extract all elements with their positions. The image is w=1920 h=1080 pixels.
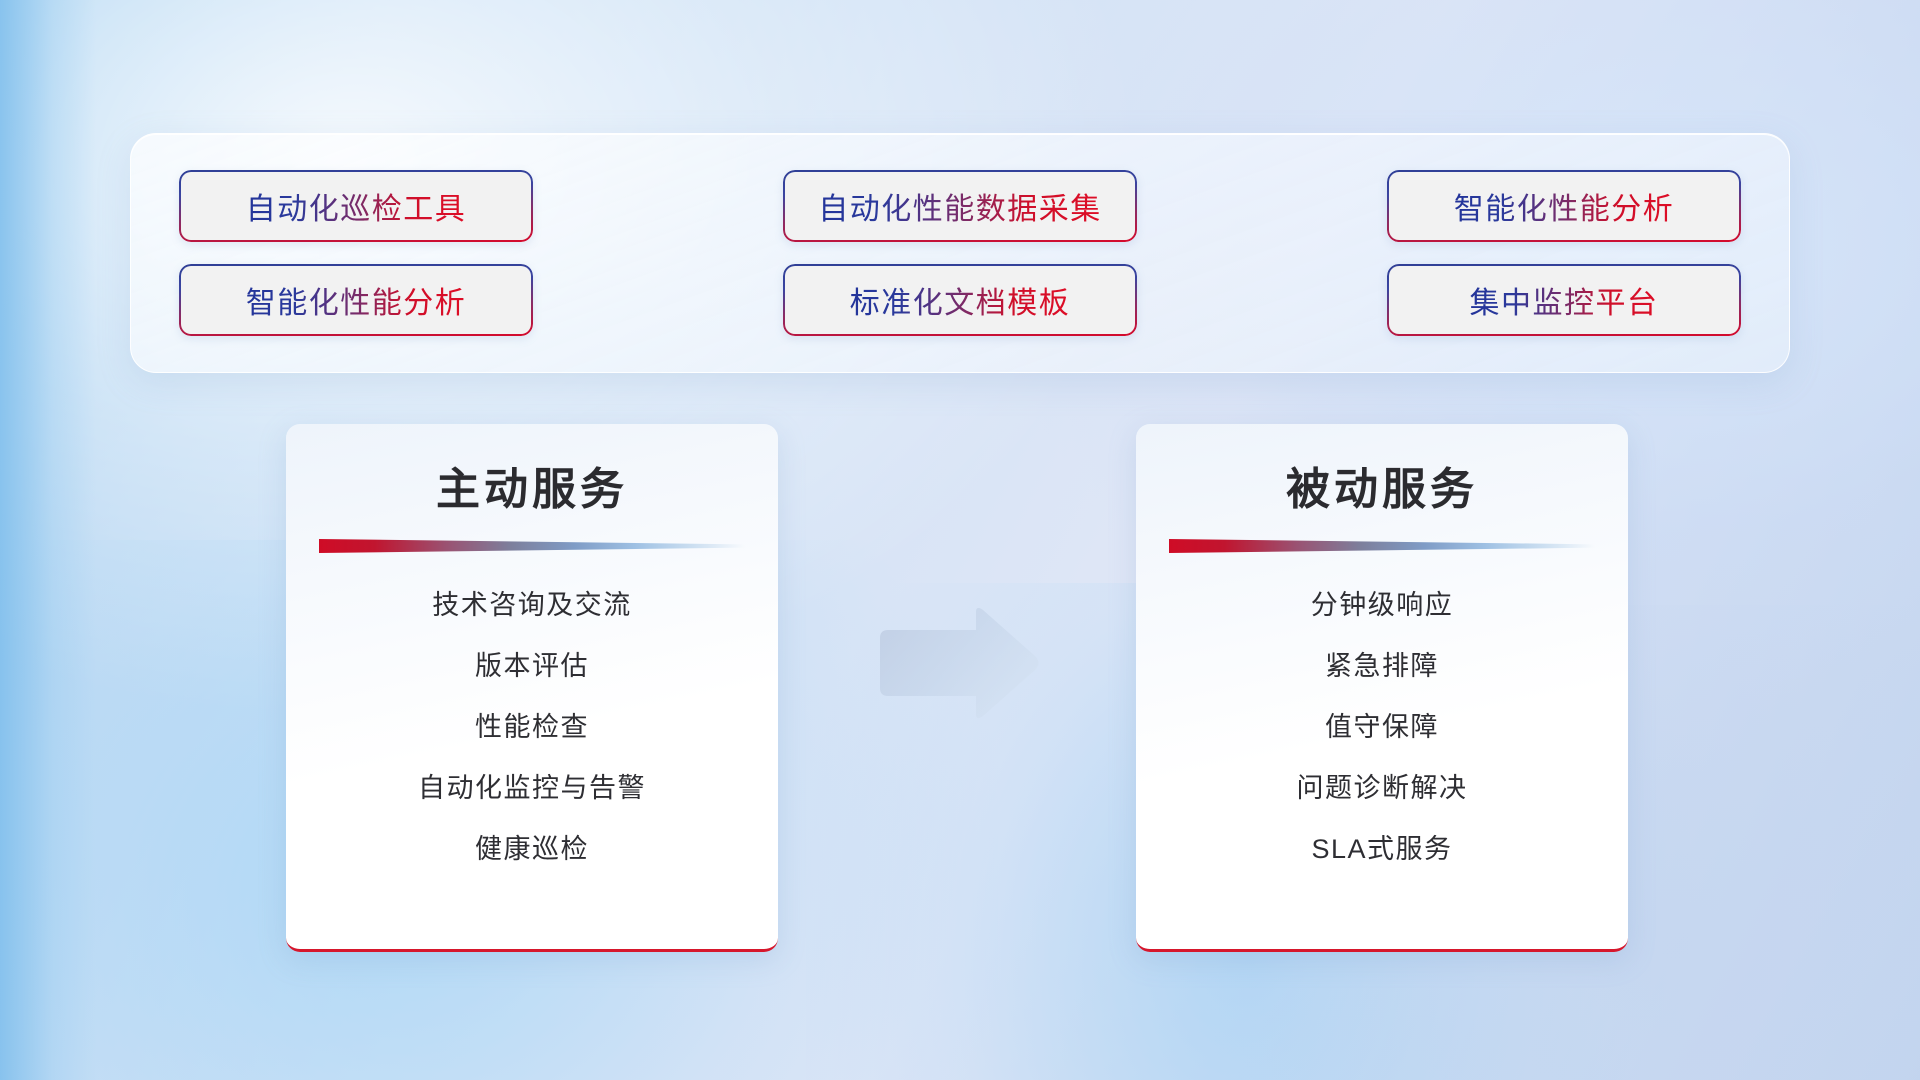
service-item: 版本评估 <box>475 644 589 683</box>
service-item-list: 分钟级响应 紧急排障 值守保障 问题诊断解决 SLA式服务 <box>1166 583 1598 866</box>
service-item: 健康巡检 <box>475 827 589 866</box>
service-item: 自动化监控与告警 <box>418 766 646 805</box>
service-item: SLA式服务 <box>1311 827 1452 866</box>
capability-pill-intelligent-performance-analysis[interactable]: 智能化性能分析 <box>1387 170 1741 242</box>
capability-pill-label: 集中监控平台 <box>1470 278 1659 322</box>
capability-row-1: 自动化巡检工具 自动化性能数据采集 智能化性能分析 <box>179 170 1741 242</box>
background-left-streak <box>0 0 96 1080</box>
service-item-list: 技术咨询及交流 版本评估 性能检查 自动化监控与告警 健康巡检 <box>316 583 748 866</box>
capability-pill-centralized-monitoring-platform[interactable]: 集中监控平台 <box>1387 264 1741 336</box>
card-divider <box>319 539 745 553</box>
capability-pill-label: 自动化性能数据采集 <box>818 184 1102 228</box>
service-card-title: 被动服务 <box>1286 462 1478 517</box>
card-divider <box>1169 539 1595 553</box>
capability-pill-intelligent-performance-analysis-2[interactable]: 智能化性能分析 <box>179 264 533 336</box>
capability-pill-label: 智能化性能分析 <box>1454 184 1675 228</box>
service-item: 紧急排障 <box>1325 644 1439 683</box>
arrow-right-icon <box>872 608 1042 720</box>
service-item: 值守保障 <box>1325 705 1439 744</box>
card-divider-gradient-bar <box>1169 539 1595 553</box>
card-divider-gradient-bar <box>319 539 745 553</box>
service-item: 性能检查 <box>475 705 589 744</box>
capability-panel: 自动化巡检工具 自动化性能数据采集 智能化性能分析 智能化性能分析 标准化文档模… <box>130 133 1790 373</box>
service-item: 分钟级响应 <box>1311 583 1454 622</box>
capability-pill-label: 智能化性能分析 <box>246 278 467 322</box>
service-item: 技术咨询及交流 <box>432 583 632 622</box>
service-card-title: 主动服务 <box>436 462 628 517</box>
capability-pill-automated-performance-data-collection[interactable]: 自动化性能数据采集 <box>783 170 1137 242</box>
capability-pill-label: 标准化文档模板 <box>850 278 1071 322</box>
capability-pill-label: 自动化巡检工具 <box>246 184 467 228</box>
capability-row-2: 智能化性能分析 标准化文档模板 集中监控平台 <box>179 264 1741 336</box>
capability-pill-standardized-document-template[interactable]: 标准化文档模板 <box>783 264 1137 336</box>
capability-pill-automation-inspection-tool[interactable]: 自动化巡检工具 <box>179 170 533 242</box>
service-card-reactive: 被动服务 分钟级响应 紧急排障 值守保障 问题诊断解决 SLA式服务 <box>1136 424 1628 952</box>
service-card-proactive: 主动服务 技术咨询及交流 版本评估 性能检查 自动化监控与告警 健康巡检 <box>286 424 778 952</box>
service-item: 问题诊断解决 <box>1297 766 1468 805</box>
